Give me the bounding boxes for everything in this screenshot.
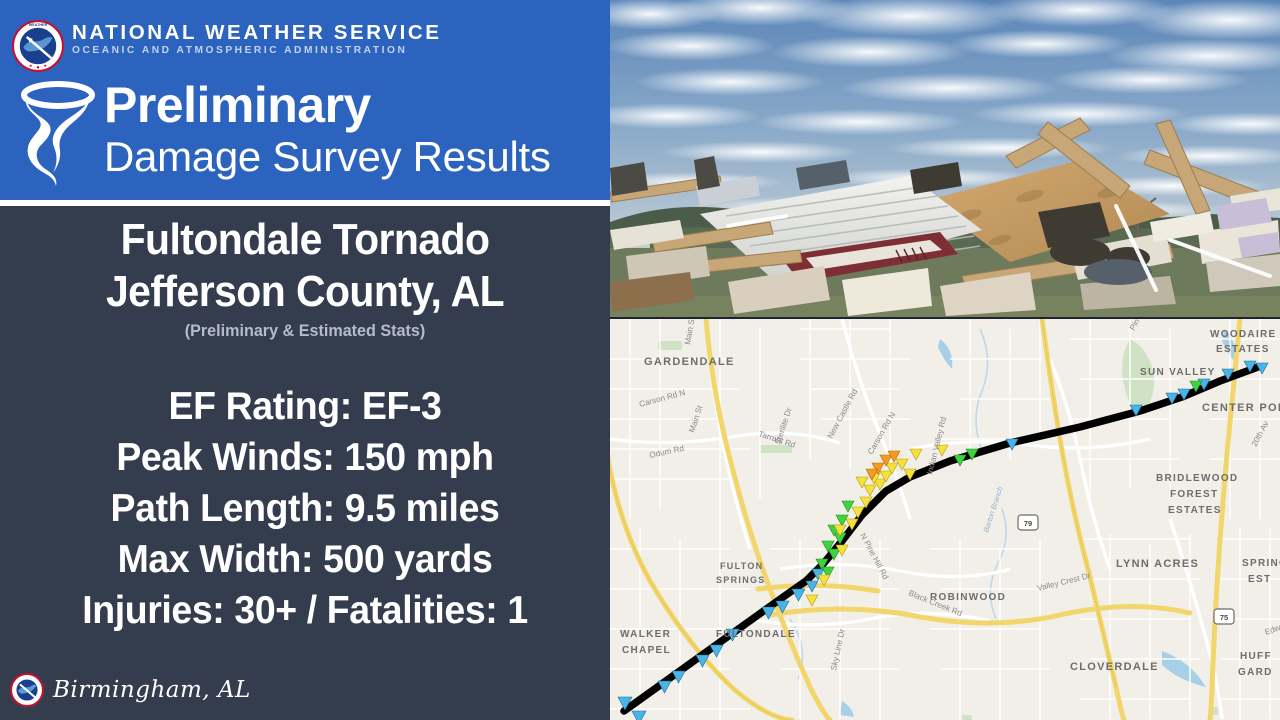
svg-text:79: 79	[1024, 519, 1032, 528]
stats-list: EF Rating: EF-3 Peak Winds: 150 mph Path…	[0, 381, 610, 636]
product-title-line2: Damage Survey Results	[104, 132, 604, 182]
product-title: Preliminary Damage Survey Results	[104, 78, 604, 182]
route-shield: 79	[1018, 515, 1038, 530]
tornado-track-map[interactable]: 31 79 79 75	[610, 319, 1280, 720]
svg-text:GARD: GARD	[1238, 667, 1273, 678]
office-name: Birmingham, AL	[53, 677, 251, 703]
nws-seal-icon	[10, 673, 44, 707]
svg-text:CHAPEL: CHAPEL	[622, 645, 671, 656]
event-title-line2: Jefferson County, AL	[21, 266, 588, 318]
stat-path-length: Path Length: 9.5 miles	[12, 483, 598, 534]
svg-text:SUN VALLEY: SUN VALLEY	[1140, 367, 1216, 378]
svg-text:WEATHER: WEATHER	[29, 23, 48, 27]
svg-text:EST: EST	[1248, 574, 1271, 585]
svg-text:FULTON: FULTON	[720, 561, 763, 571]
event-title-line1: Fultondale Tornado	[21, 214, 588, 266]
agency-subtitle: OCEANIC AND ATMOSPHERIC ADMINISTRATION	[72, 44, 442, 58]
svg-text:75: 75	[1220, 613, 1228, 622]
svg-text:SPRING: SPRING	[1242, 558, 1280, 569]
route-shield: 75	[1214, 609, 1234, 624]
svg-text:LYNN ACRES: LYNN ACRES	[1116, 558, 1199, 570]
left-panel: WEATHER NATIONAL WEATHER SERVICE OCEANIC…	[0, 0, 610, 720]
svg-text:WALKER: WALKER	[620, 629, 671, 640]
event-subtitle: (Preliminary & Estimated Stats)	[15, 318, 595, 344]
svg-text:CLOVERDALE: CLOVERDALE	[1070, 661, 1159, 673]
tornado-funnel-icon	[14, 78, 98, 190]
stat-peak-winds: Peak Winds: 150 mph	[12, 432, 598, 483]
event-titles: Fultondale Tornado Jefferson County, AL …	[0, 214, 610, 344]
svg-text:GARDENDALE: GARDENDALE	[644, 356, 735, 368]
stat-casualties: Injuries: 30+ / Fatalities: 1	[12, 585, 598, 636]
info-panel: Fultondale Tornado Jefferson County, AL …	[0, 206, 610, 720]
nws-seal-icon: WEATHER	[12, 20, 64, 72]
svg-text:ESTATES: ESTATES	[1168, 505, 1222, 516]
svg-text:SPRINGS: SPRINGS	[716, 575, 766, 585]
svg-text:ESTATES: ESTATES	[1216, 344, 1270, 355]
svg-text:BRIDLEWOOD: BRIDLEWOOD	[1156, 473, 1238, 484]
damage-survey-graphic: WEATHER NATIONAL WEATHER SERVICE OCEANIC…	[0, 0, 1280, 720]
nws-header: WEATHER NATIONAL WEATHER SERVICE OCEANIC…	[0, 0, 610, 200]
svg-text:CENTER POINT: CENTER POINT	[1202, 402, 1280, 414]
svg-text:FULTONDALE: FULTONDALE	[716, 629, 796, 640]
nws-wordmark: NATIONAL WEATHER SERVICE OCEANIC AND ATM…	[72, 22, 442, 58]
stat-max-width: Max Width: 500 yards	[12, 534, 598, 585]
damage-survey-photo	[610, 0, 1280, 317]
agency-name: NATIONAL WEATHER SERVICE	[72, 22, 442, 44]
issuing-office: Birmingham, AL	[10, 670, 251, 710]
svg-text:WOODAIRE: WOODAIRE	[1210, 329, 1277, 340]
svg-text:FOREST: FOREST	[1170, 489, 1218, 500]
stat-ef-rating: EF Rating: EF-3	[12, 381, 598, 432]
svg-text:HUFF: HUFF	[1240, 651, 1272, 662]
right-panel: 31 79 79 75	[610, 0, 1280, 720]
product-title-line1: Preliminary	[104, 78, 604, 132]
